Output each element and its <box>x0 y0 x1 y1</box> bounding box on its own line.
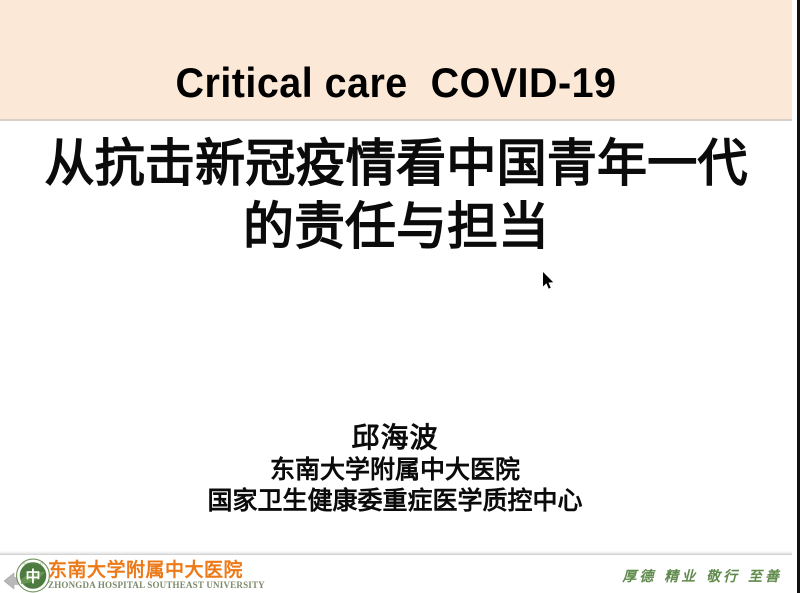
presentation-slide: Critical care COVID-19 从抗击新冠疫情看中国青年一代 的责… <box>0 0 800 593</box>
page-title-line-1: 从抗击新冠疫情看中国青年一代 <box>14 133 778 196</box>
footer-brand-cn: 东南大学附属中大医院 <box>48 561 265 580</box>
presenter-name: 邱海波 <box>0 421 790 454</box>
page-title: 从抗击新冠疫情看中国青年一代 的责任与担当 <box>8 133 784 259</box>
presenter-affiliation-secondary: 国家卫生健康委重症医学质控中心 <box>0 485 790 516</box>
presenter-block: 邱海波 东南大学附属中大医院 国家卫生健康委重症医学质控中心 <box>0 421 790 516</box>
mouse-pointer-icon <box>543 272 555 290</box>
footer-brand: 东南大学附属中大医院 ZHONGDA HOSPITAL SOUTHEAST UN… <box>48 561 265 590</box>
zhongda-hospital-logo-icon: 中 SOUTHEAST <box>15 558 51 593</box>
page-title-line-2: 的责任与担当 <box>8 196 784 259</box>
slide-banner: Critical care COVID-19 <box>0 0 792 121</box>
footer-divider <box>0 551 792 555</box>
presenter-affiliation: 东南大学附属中大医院 <box>0 454 790 485</box>
banner-title: Critical care COVID-19 <box>24 60 768 106</box>
svg-text:SOUTHEAST: SOUTHEAST <box>22 561 44 565</box>
footer-motto: 厚德 精业 敬行 至善 <box>622 566 782 586</box>
svg-text:中: 中 <box>25 568 40 586</box>
footer-brand-en: ZHONGDA HOSPITAL SOUTHEAST UNIVERSITY <box>48 581 265 590</box>
